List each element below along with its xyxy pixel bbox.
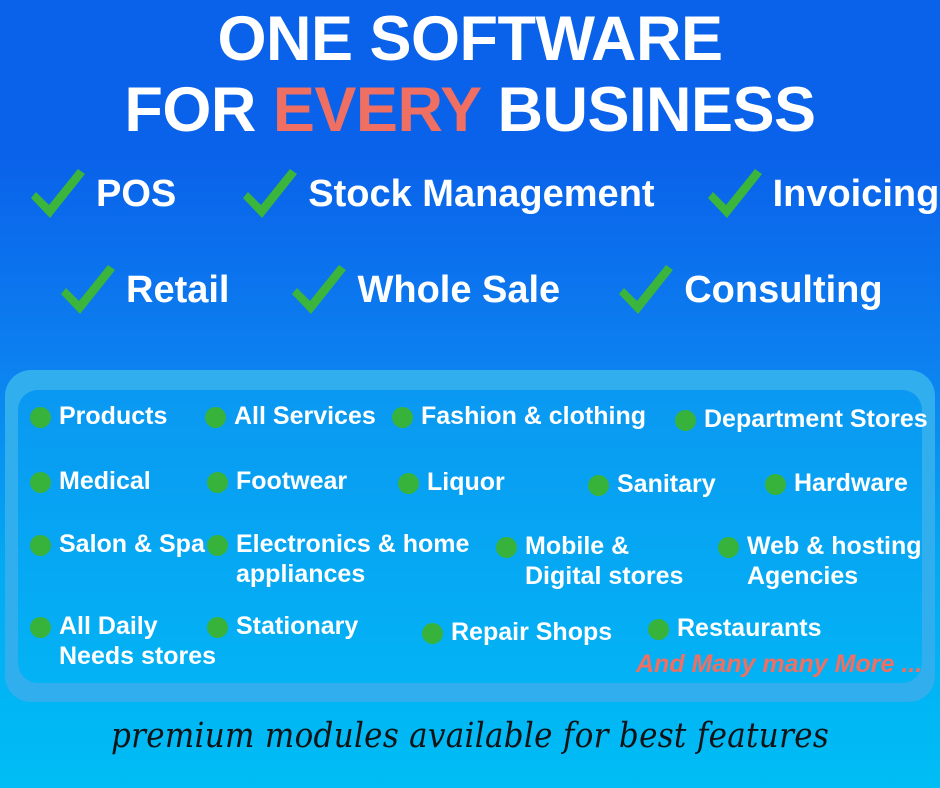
bullet-dot-icon: [675, 410, 696, 431]
category-label: Liquor: [427, 468, 505, 498]
bullet-dot-icon: [398, 473, 419, 494]
feature-label: Retail: [126, 269, 229, 312]
category-item: Salon & Spa: [30, 530, 205, 560]
category-item: Hardware: [765, 469, 908, 499]
category-label: Electronics & home appliances: [236, 530, 469, 589]
check-icon: [707, 168, 763, 220]
headline-line-2-after: BUSINESS: [481, 75, 816, 145]
promo-poster: ONE SOFTWARE FOR EVERY BUSINESS POS Stoc…: [0, 0, 940, 788]
category-item: Products: [30, 402, 167, 432]
feature-row-1: POS Stock Management Invoicing: [0, 168, 940, 220]
bullet-dot-icon: [30, 617, 51, 638]
headline-line-1: ONE SOFTWARE: [0, 8, 940, 71]
category-label: Fashion & clothing: [421, 402, 646, 432]
bullet-dot-icon: [30, 407, 51, 428]
bullet-dot-icon: [207, 472, 228, 493]
category-item: Repair Shops: [422, 618, 612, 648]
category-label: Repair Shops: [451, 618, 612, 648]
check-icon: [60, 264, 116, 316]
feature-label: Stock Management: [308, 173, 654, 216]
category-label: Department Stores: [704, 405, 928, 435]
feature-item-stock-management: Stock Management: [242, 168, 654, 220]
bullet-dot-icon: [496, 537, 517, 558]
check-icon: [242, 168, 298, 220]
category-item: Web & hosting Agencies: [718, 532, 922, 591]
category-label: All Daily Needs stores: [59, 612, 216, 671]
category-item: Liquor: [398, 468, 505, 498]
category-item: Sanitary: [588, 470, 716, 500]
bullet-dot-icon: [207, 535, 228, 556]
page-title: ONE SOFTWARE FOR EVERY BUSINESS: [0, 8, 940, 142]
feature-row-2: Retail Whole Sale Consulting: [0, 264, 940, 316]
feature-label: Consulting: [684, 269, 882, 312]
category-label: Hardware: [794, 469, 908, 499]
check-icon: [30, 168, 86, 220]
feature-item-invoicing: Invoicing: [707, 168, 940, 220]
check-icon: [291, 264, 347, 316]
category-label: Restaurants: [677, 614, 822, 644]
headline-line-2-before: FOR: [124, 75, 273, 145]
and-many-more-text: And Many many More ...: [636, 650, 922, 679]
bullet-dot-icon: [392, 407, 413, 428]
category-label: Medical: [59, 467, 151, 497]
category-item: Department Stores: [675, 405, 928, 435]
feature-label: POS: [96, 173, 176, 216]
bullet-dot-icon: [30, 535, 51, 556]
feature-item-pos: POS: [30, 168, 176, 220]
category-label: Stationary: [236, 612, 358, 642]
category-item: Restaurants: [648, 614, 822, 644]
category-item: Fashion & clothing: [392, 402, 646, 432]
bullet-dot-icon: [30, 472, 51, 493]
category-item: Mobile & Digital stores: [496, 532, 683, 591]
tagline: premium modules available for best featu…: [0, 716, 940, 756]
headline-highlight-every: EVERY: [273, 75, 481, 145]
category-label: Web & hosting Agencies: [747, 532, 922, 591]
category-label: Salon & Spa: [59, 530, 205, 560]
category-item: Stationary: [207, 612, 358, 642]
bullet-dot-icon: [422, 623, 443, 644]
category-item: All Services: [205, 402, 376, 432]
headline-line-2: FOR EVERY BUSINESS: [0, 79, 940, 142]
category-label: Products: [59, 402, 167, 432]
bullet-dot-icon: [648, 619, 669, 640]
category-item: All Daily Needs stores: [30, 612, 216, 671]
bullet-dot-icon: [588, 475, 609, 496]
bullet-dot-icon: [718, 537, 739, 558]
category-label: Footwear: [236, 467, 347, 497]
feature-item-consulting: Consulting: [618, 264, 882, 316]
category-item: Medical: [30, 467, 151, 497]
bullet-dot-icon: [207, 617, 228, 638]
bullet-dot-icon: [765, 474, 786, 495]
feature-item-retail: Retail: [60, 264, 229, 316]
category-label: Mobile & Digital stores: [525, 532, 683, 591]
feature-label: Invoicing: [773, 173, 940, 216]
check-icon: [618, 264, 674, 316]
category-label: Sanitary: [617, 470, 716, 500]
feature-item-whole-sale: Whole Sale: [291, 264, 560, 316]
category-label: All Services: [234, 402, 376, 432]
category-item: Footwear: [207, 467, 347, 497]
feature-label: Whole Sale: [357, 269, 560, 312]
category-item: Electronics & home appliances: [207, 530, 469, 589]
bullet-dot-icon: [205, 407, 226, 428]
